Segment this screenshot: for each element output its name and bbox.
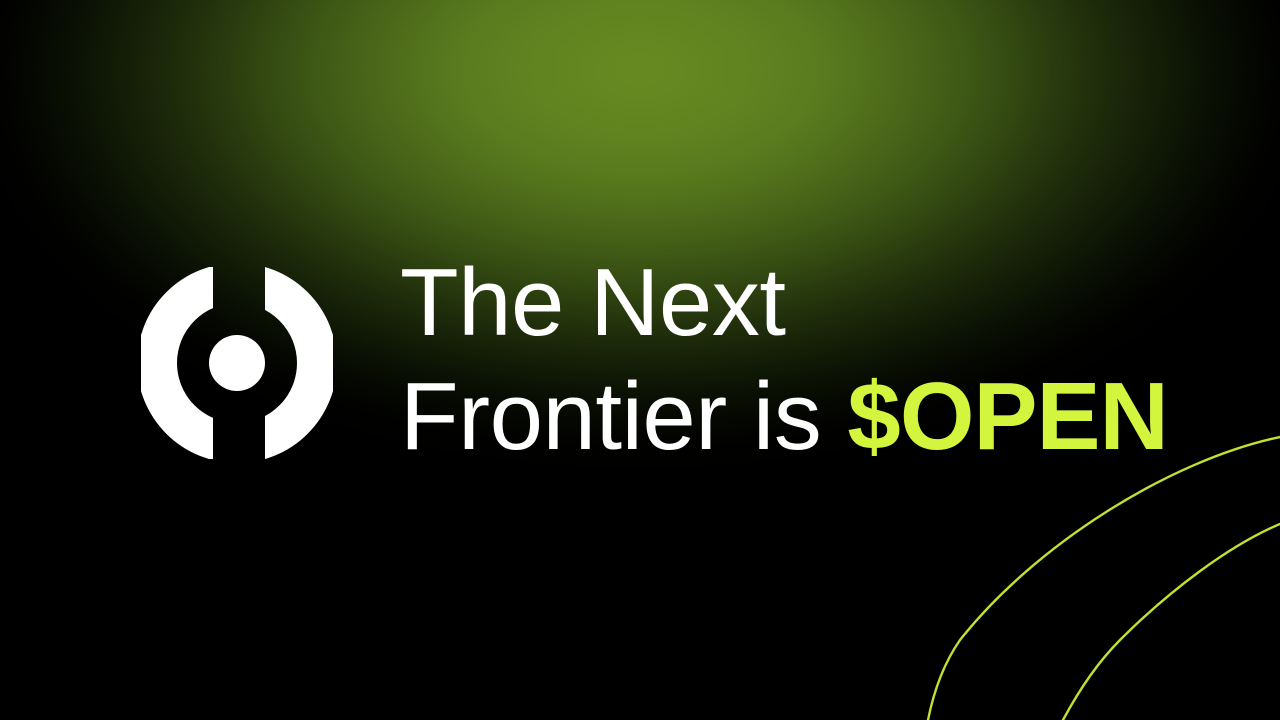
headline-line-two-prefix: Frontier is xyxy=(400,363,847,470)
headline-line-two: Frontier is $OPEN xyxy=(400,361,1168,473)
headline-line-one: The Next xyxy=(400,247,1168,359)
page-title: The Next Frontier is $OPEN xyxy=(400,247,1168,473)
token-ticker: $OPEN xyxy=(847,363,1167,470)
hero-banner: The Next Frontier is $OPEN xyxy=(0,0,1280,720)
open-ledger-mark xyxy=(137,263,337,463)
arc-upper xyxy=(928,437,1280,720)
arc-lower xyxy=(1063,524,1280,720)
hero-content: The Next Frontier is $OPEN xyxy=(137,247,1168,473)
mark-center-dot xyxy=(209,335,265,391)
